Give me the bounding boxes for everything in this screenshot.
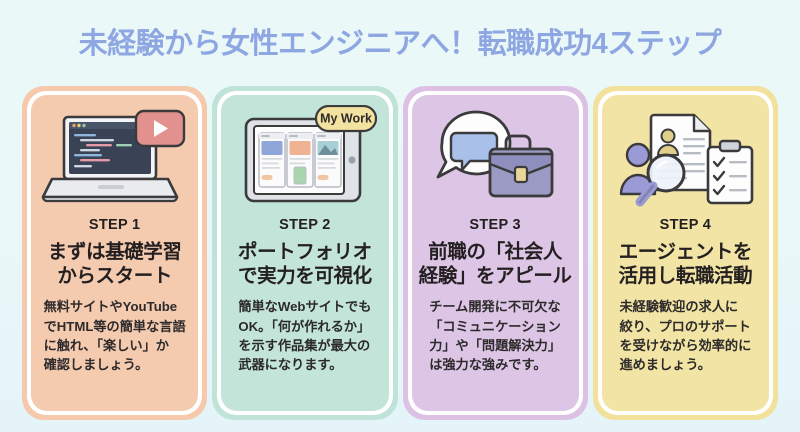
step-label-4: STEP 4 <box>660 217 712 233</box>
steps-card-row: STEP 1 まずは基礎学習 からスタート 無料サイトやYouTube でHTM… <box>22 86 778 420</box>
card-body-3: チーム開発に不可欠な 「コミュニケーション 力」や「問題解決力」 は強力な強みで… <box>425 297 565 374</box>
speech-bubble-briefcase-icon <box>418 103 573 215</box>
card-title-1: まずは基礎学習 からスタート <box>48 240 182 288</box>
svg-text:My Work: My Work <box>320 112 372 126</box>
card-content-1: STEP 1 まずは基礎学習 からスタート 無料サイトやYouTube でHTM… <box>31 95 198 411</box>
step-card-3[interactable]: STEP 3 前職の「社会人 経験」をアピール チーム開発に不可欠な 「コミュニ… <box>403 86 588 420</box>
card-title-4: エージェントを 活用し転職活動 <box>619 240 753 288</box>
card-title-2: ポートフォリオ で実力を可視化 <box>238 240 372 288</box>
step-card-2[interactable]: My Work STEP 2 ポートフォリオ で実力を可視化 簡単なWebサイト… <box>212 86 397 420</box>
step-card-4[interactable]: STEP 4 エージェントを 活用し転職活動 未経験歓迎の求人に 絞り、プロのサ… <box>593 86 778 420</box>
card-content-3: STEP 3 前職の「社会人 経験」をアピール チーム開発に不可欠な 「コミュニ… <box>412 95 579 411</box>
card-border-4: STEP 4 エージェントを 活用し転職活動 未経験歓迎の求人に 絞り、プロのサ… <box>598 91 773 415</box>
my-work-badge: My Work <box>316 106 376 131</box>
resume-search-clipboard-icon <box>608 103 763 215</box>
card-content-4: STEP 4 エージェントを 活用し転職活動 未経験歓迎の求人に 絞り、プロのサ… <box>602 95 769 411</box>
card-body-1: 無料サイトやYouTube でHTML等の簡単な言語 に触れ、「楽しい」か 確認… <box>40 297 190 374</box>
laptop-code-play-icon <box>37 103 192 215</box>
infographic-page: 未経験から女性エンジニアへ！転職成功4ステップ <box>0 0 800 432</box>
card-title-3: 前職の「社会人 経験」をアピール <box>419 240 572 288</box>
card-body-2: 簡単なWebサイトでも OK。「何が作れるか」 を示す作品集が最大の 武器になり… <box>234 297 375 374</box>
step-label-3: STEP 3 <box>469 217 521 233</box>
card-body-4: 未経験歓迎の求人に 絞り、プロのサポート を受けながら効率的に 進めましょう。 <box>615 297 755 374</box>
card-border-3: STEP 3 前職の「社会人 経験」をアピール チーム開発に不可欠な 「コミュニ… <box>408 91 583 415</box>
step-label-2: STEP 2 <box>279 217 331 233</box>
tablet-portfolio-icon: My Work <box>227 103 382 215</box>
page-title: 未経験から女性エンジニアへ！転職成功4ステップ <box>0 20 800 62</box>
card-border-2: My Work STEP 2 ポートフォリオ で実力を可視化 簡単なWebサイト… <box>217 91 392 415</box>
step-card-1[interactable]: STEP 1 まずは基礎学習 からスタート 無料サイトやYouTube でHTM… <box>22 86 207 420</box>
card-content-2: My Work STEP 2 ポートフォリオ で実力を可視化 簡単なWebサイト… <box>221 95 388 411</box>
card-border-1: STEP 1 まずは基礎学習 からスタート 無料サイトやYouTube でHTM… <box>27 91 202 415</box>
step-label-1: STEP 1 <box>89 217 141 233</box>
